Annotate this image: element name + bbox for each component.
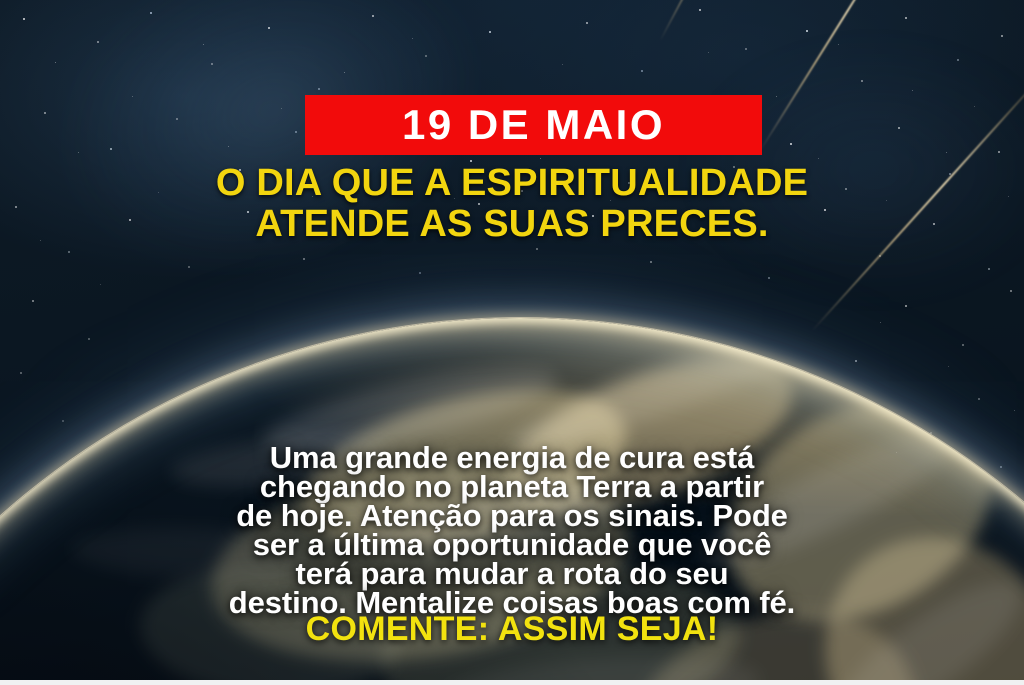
bottom-strip [0,680,1024,685]
overlay-content: 19 DE MAIO O DIA QUE A ESPIRITUALIDADE A… [0,0,1024,685]
social-post-graphic: 19 DE MAIO O DIA QUE A ESPIRITUALIDADE A… [0,0,1024,685]
body-line-5: terá para mudar a rota do seu [52,559,972,588]
body-copy: Uma grande energia de cura está chegando… [0,443,1024,617]
call-to-action: COMENTE: ASSIM SEJA! [0,610,1024,649]
body-line-2: chegando no planeta Terra a partir [52,472,972,501]
body-line-4: ser a última oportunidade que você [52,530,972,559]
headline: O DIA QUE A ESPIRITUALIDADE ATENDE AS SU… [0,163,1024,245]
body-line-1: Uma grande energia de cura está [52,443,972,472]
date-banner: 19 DE MAIO [305,95,762,155]
body-line-3: de hoje. Atenção para os sinais. Pode [52,501,972,530]
date-banner-label: 19 DE MAIO [402,104,665,146]
headline-line-1: O DIA QUE A ESPIRITUALIDADE [40,163,984,204]
headline-line-2: ATENDE AS SUAS PRECES. [40,204,984,245]
